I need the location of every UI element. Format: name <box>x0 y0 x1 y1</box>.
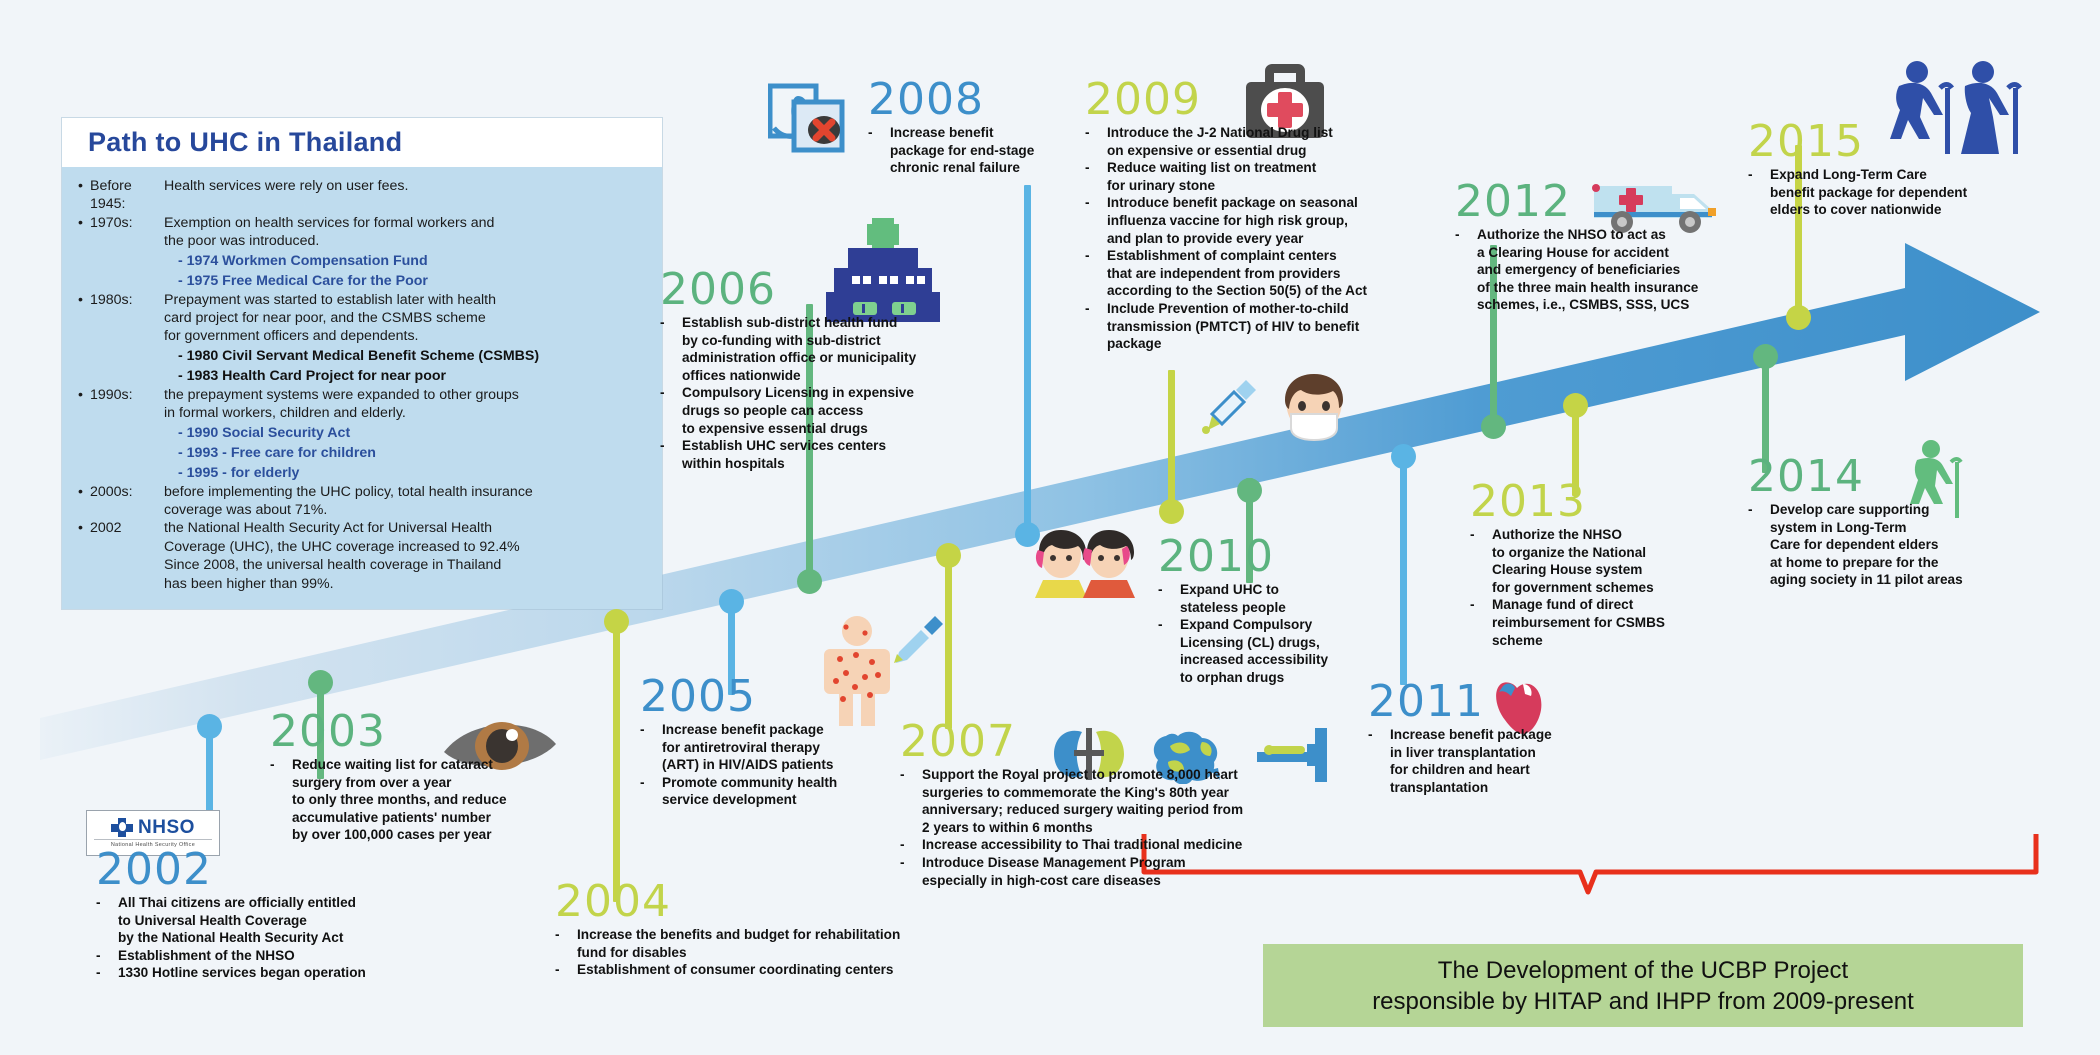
banner-line-2: responsible by HITAP and IHPP from 2009-… <box>1372 986 1914 1017</box>
infobox-continuation: for government officers and dependents. <box>78 327 650 345</box>
event-year-2009: 2009 <box>1085 78 1475 122</box>
event-bullet-text: Introduce benefit package on seasonalinf… <box>1107 194 1475 247</box>
infobox-body: •Before 1945:Health services were rely o… <box>62 167 662 609</box>
event-bullet: -Introduce benefit package on seasonalin… <box>1085 194 1475 247</box>
dash-icon: - <box>1470 526 1492 596</box>
stateless-children-icon <box>1035 528 1145 600</box>
dash-icon: - <box>660 314 682 384</box>
event-bullet-text: Establish sub-district health fundby co-… <box>682 314 1070 384</box>
event-bullet: -Establish UHC services centerswithin ho… <box>660 437 1070 472</box>
event-bullet: -Expand Long-Term Carebenefit package fo… <box>1748 166 2098 219</box>
infobox-subrow: - 1993 - Free care for children <box>78 443 650 463</box>
dot-2012 <box>1481 414 1506 439</box>
event-year-2014: 2014 <box>1748 455 2088 499</box>
event-bullet: -All Thai citizens are officially entitl… <box>96 894 496 947</box>
dash-icon: - <box>640 721 662 774</box>
dash-icon: - <box>1085 124 1107 159</box>
path-to-uhc-infobox: Path to UHC in Thailand •Before 1945:Hea… <box>62 118 662 609</box>
event-bullet: -Increase the benefits and budget for re… <box>555 926 1115 961</box>
dash-icon: - <box>900 766 922 836</box>
event-bullet-text: Establish UHC services centerswithin hos… <box>682 437 1070 472</box>
infobox-row-text: Prepayment was started to establish late… <box>164 291 650 309</box>
event-bullet: -Authorize the NHSO to act asa Clearing … <box>1455 226 1875 314</box>
infobox-row: •2002the National Health Security Act fo… <box>78 519 650 537</box>
event-bullet-text: Increase the benefits and budget for reh… <box>577 926 1115 961</box>
dash-icon: - <box>1158 616 1180 686</box>
ucbp-banner: The Development of the UCBP Project resp… <box>1263 944 2023 1027</box>
event-2006: 2006-Establish sub-district health fundb… <box>660 268 1070 472</box>
event-bullets: -Introduce the J-2 National Drug liston … <box>1085 124 1475 353</box>
event-bullet: -Introduce the J-2 National Drug liston … <box>1085 124 1475 159</box>
event-bullet: -Compulsory Licensing in expensivedrugs … <box>660 384 1070 437</box>
event-bullet: -Expand UHC tostateless people <box>1158 581 1448 616</box>
dash-icon: - <box>1085 247 1107 300</box>
infobox-row-text: Exemption on health services for formal … <box>164 214 650 232</box>
event-bullets: -All Thai citizens are officially entitl… <box>96 894 496 982</box>
dash-icon: - <box>660 437 682 472</box>
dash-icon: - <box>1455 226 1477 314</box>
event-bullets: -Develop care supportingsystem in Long-T… <box>1748 501 2088 589</box>
dot-2010 <box>1237 478 1262 503</box>
event-year-2015: 2015 <box>1748 120 2098 164</box>
infobox-continuation: Since 2008, the universal health coverag… <box>78 556 650 574</box>
nhso-logo-text: NHSO <box>138 818 195 837</box>
dash-icon: - <box>1158 581 1180 616</box>
infobox-row: •2000s:before implementing the UHC polic… <box>78 483 650 501</box>
dash-icon: - <box>640 774 662 809</box>
infobox-subrow: - 1995 - for elderly <box>78 463 650 483</box>
event-bullet-text: Include Prevention of mother-to-childtra… <box>1107 300 1475 353</box>
dash-icon: - <box>660 384 682 437</box>
dash-icon: - <box>1368 726 1390 796</box>
event-year-2011: 2011 <box>1368 680 1688 724</box>
kidney-dialysis-icon <box>768 82 846 154</box>
event-bullet: -Increase accessibility to Thai traditio… <box>900 836 1460 854</box>
event-2014: 2014-Develop care supportingsystem in Lo… <box>1748 455 2088 589</box>
event-bullet-text: Develop care supportingsystem in Long-Te… <box>1770 501 2088 589</box>
event-year-2002: 2002 <box>96 848 496 892</box>
event-bullet-text: Introduce Disease Management Programespe… <box>922 854 1460 889</box>
event-year-2003: 2003 <box>270 710 660 754</box>
dot-2004 <box>604 609 629 634</box>
event-bullet: -Establish sub-district health fundby co… <box>660 314 1070 384</box>
infobox-row-key: 2000s: <box>90 483 164 501</box>
infobox-continuation: in formal workers, children and elderly. <box>78 404 650 422</box>
event-2011: 2011-Increase benefit packagein liver tr… <box>1368 680 1688 796</box>
event-2010: 2010-Expand UHC tostateless people-Expan… <box>1158 535 1448 687</box>
nhso-logo-main: NHSO <box>111 818 195 837</box>
infobox-subrow: - 1990 Social Security Act <box>78 423 650 443</box>
event-2015: 2015-Expand Long-Term Carebenefit packag… <box>1748 120 2098 219</box>
infobox-row-key: 1990s: <box>90 386 164 404</box>
event-bullet: -Introduce Disease Management Programesp… <box>900 854 1460 889</box>
infobox-subrow: - 1980 Civil Servant Medical Benefit Sch… <box>78 346 650 366</box>
event-2003: 2003-Reduce waiting list for cataractsur… <box>270 710 660 844</box>
event-bullet: -Establishment of complaint centersthat … <box>1085 247 1475 300</box>
event-bullet: -Reduce waiting list for cataractsurgery… <box>270 756 660 844</box>
event-2004: 2004-Increase the benefits and budget fo… <box>555 880 1115 979</box>
event-bullet-text: Increase accessibility to Thai tradition… <box>922 836 1460 854</box>
dash-icon: - <box>555 961 577 979</box>
event-bullet: -Increase benefit packagein liver transp… <box>1368 726 1688 796</box>
event-bullets: -Expand UHC tostateless people-Expand Co… <box>1158 581 1448 687</box>
dash-icon: - <box>1748 166 1770 219</box>
infobox-row: •1970s:Exemption on health services for … <box>78 214 650 232</box>
dash-icon: - <box>1085 159 1107 194</box>
infobox-row: •1980s:Prepayment was started to establi… <box>78 291 650 309</box>
masked-child-icon <box>1275 372 1353 444</box>
infobox-row-text: the National Health Security Act for Uni… <box>164 519 650 537</box>
dash-icon: - <box>1085 194 1107 247</box>
infobox-row-key: 2002 <box>90 519 164 537</box>
dot-2005 <box>719 589 744 614</box>
event-bullet-text: Compulsory Licensing in expensivedrugs s… <box>682 384 1070 437</box>
event-bullets: -Reduce waiting list for cataractsurgery… <box>270 756 660 844</box>
event-bullet-text: Reduce waiting list for cataractsurgery … <box>292 756 660 844</box>
event-bullets: -Increase benefit packagein liver transp… <box>1368 726 1688 796</box>
dash-icon: - <box>96 964 118 982</box>
dash-icon: - <box>1748 501 1770 589</box>
dash-icon: - <box>900 854 922 889</box>
event-year-2005: 2005 <box>640 675 970 719</box>
event-bullet: -Reduce waiting list on treatmentfor uri… <box>1085 159 1475 194</box>
event-bullet-text: All Thai citizens are officially entitle… <box>118 894 496 947</box>
event-bullets: -Authorize the NHSO to act asa Clearing … <box>1455 226 1875 314</box>
dot-2011 <box>1391 444 1416 469</box>
nhso-cross-icon <box>111 818 133 837</box>
event-bullet: -Establishment of the NHSO <box>96 947 496 965</box>
event-bullet-text: Establishment of consumer coordinating c… <box>577 961 1115 979</box>
event-bullets: -Expand Long-Term Carebenefit package fo… <box>1748 166 2098 219</box>
dash-icon: - <box>96 894 118 947</box>
event-bullets: -Establish sub-district health fundby co… <box>660 314 1070 472</box>
event-bullets: -Increase the benefits and budget for re… <box>555 926 1115 979</box>
infobox-row-text: Health services were rely on user fees. <box>164 177 650 214</box>
dot-2013 <box>1563 393 1588 418</box>
dot-2003 <box>308 670 333 695</box>
bullet-icon: • <box>78 386 90 404</box>
dash-icon: - <box>96 947 118 965</box>
infobox-subrow: - 1983 Health Card Project for near poor <box>78 366 650 386</box>
syringe-icon-2005 <box>885 612 945 667</box>
bullet-icon: • <box>78 483 90 501</box>
infobox-row-key: 1980s: <box>90 291 164 309</box>
dash-icon: - <box>900 836 922 854</box>
dash-icon: - <box>270 756 292 844</box>
infobox-continuation: has been higher than 99%. <box>78 575 650 593</box>
syringe-icon <box>1200 378 1258 434</box>
stem-2009 <box>1168 370 1175 510</box>
event-year-2010: 2010 <box>1158 535 1448 579</box>
bullet-icon: • <box>78 519 90 537</box>
event-bullet: -Develop care supportingsystem in Long-T… <box>1748 501 2088 589</box>
infobox-row-text: the prepayment systems were expanded to … <box>164 386 650 404</box>
infobox-title: Path to UHC in Thailand <box>62 118 662 167</box>
bullet-icon: • <box>78 214 90 232</box>
event-bullet-text: Reduce waiting list on treatmentfor urin… <box>1107 159 1475 194</box>
infobox-row: •Before 1945:Health services were rely o… <box>78 177 650 214</box>
infobox-continuation: card project for near poor, and the CSMB… <box>78 309 650 327</box>
bullet-icon: • <box>78 177 90 214</box>
infobox-row-key: 1970s: <box>90 214 164 232</box>
event-2002: 2002-All Thai citizens are officially en… <box>96 848 496 982</box>
infobox-continuation: coverage was about 71%. <box>78 501 650 519</box>
dash-icon: - <box>555 926 577 961</box>
dash-icon: - <box>868 124 890 177</box>
bullet-icon: • <box>78 291 90 309</box>
event-bullet-text: Increase benefit packagein liver transpl… <box>1390 726 1688 796</box>
event-bullet-text: 1330 Hotline services began operation <box>118 964 496 982</box>
dot-2007 <box>936 543 961 568</box>
infographic-canvas: Path to UHC in Thailand •Before 1945:Hea… <box>0 0 2100 1055</box>
event-2009: 2009-Introduce the J-2 National Drug lis… <box>1085 78 1475 353</box>
event-bullet-text: Manage fund of directreimbursement for C… <box>1492 596 1800 649</box>
event-bullet-text: Expand Long-Term Carebenefit package for… <box>1770 166 2098 219</box>
dot-2009 <box>1159 499 1184 524</box>
infobox-row-text: before implementing the UHC policy, tota… <box>164 483 650 501</box>
infobox-row: •1990s:the prepayment systems were expan… <box>78 386 650 404</box>
banner-line-1: The Development of the UCBP Project <box>1438 955 1848 986</box>
dot-2002 <box>197 714 222 739</box>
infobox-subrow: - 1974 Workmen Compensation Fund <box>78 251 650 271</box>
event-bullet: -Manage fund of directreimbursement for … <box>1470 596 1800 649</box>
dot-2014 <box>1753 344 1778 369</box>
infobox-subrow: - 1975 Free Medical Care for the Poor <box>78 271 650 291</box>
event-bullet-text: Expand UHC tostateless people <box>1180 581 1448 616</box>
event-bullet-text: Establishment of complaint centersthat a… <box>1107 247 1475 300</box>
event-bullet-text: Introduce the J-2 National Drug liston e… <box>1107 124 1475 159</box>
event-bullet: -1330 Hotline services began operation <box>96 964 496 982</box>
infobox-continuation: the poor was introduced. <box>78 232 650 250</box>
event-bullet-text: Establishment of the NHSO <box>118 947 496 965</box>
event-bullet: -Establishment of consumer coordinating … <box>555 961 1115 979</box>
dot-2006 <box>797 569 822 594</box>
dash-icon: - <box>1085 300 1107 353</box>
event-bullet: -Include Prevention of mother-to-childtr… <box>1085 300 1475 353</box>
infobox-continuation: Coverage (UHC), the UHC coverage increas… <box>78 538 650 556</box>
event-year-2006: 2006 <box>660 268 1070 312</box>
event-bullet-text: Authorize the NHSO to act asa Clearing H… <box>1477 226 1875 314</box>
dash-icon: - <box>1470 596 1492 649</box>
infobox-row-key: Before 1945: <box>90 177 164 214</box>
